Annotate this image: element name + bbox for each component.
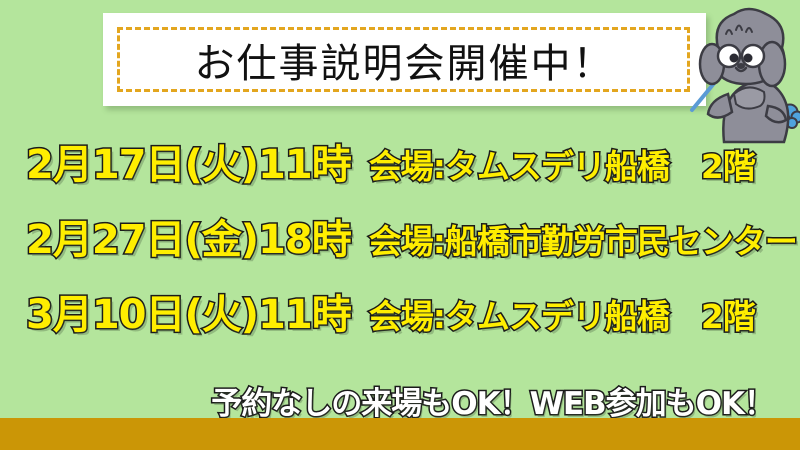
mascot-chest-fluff	[734, 87, 765, 108]
mascot-pupil-right	[744, 54, 753, 63]
mascot-ear-right	[759, 42, 785, 86]
schedule-row-3: 3月10日(火)11時 会場:タムスデリ船橋 2階	[0, 282, 800, 357]
mascot-arm-left	[708, 94, 732, 118]
poodle-mascot-icon	[684, 2, 800, 154]
schedule-row-1: 2月17日(火)11時 会場:タムスデリ船橋 2階	[0, 132, 800, 207]
schedule-venue-2: 会場:船橋市勤労市民センター	[369, 215, 797, 263]
schedule-date-2: 2月27日(金)18時	[26, 207, 351, 265]
mascot-pupil-left	[730, 54, 739, 63]
footer-note: 予約なしの来場もOK！WEB参加もOK！	[0, 378, 774, 423]
schedule-date-3: 3月10日(火)11時	[26, 282, 351, 340]
schedule-row-2: 2月27日(金)18時 会場:船橋市勤労市民センター	[0, 207, 800, 282]
schedule-date-1: 2月17日(火)11時	[26, 132, 351, 190]
mascot-nose	[737, 63, 745, 69]
schedule-list: 2月17日(火)11時 会場:タムスデリ船橋 2階 2月27日(金)18時 会場…	[0, 132, 800, 357]
title-banner: お仕事説明会開催中！	[103, 13, 706, 106]
page-title: お仕事説明会開催中！	[103, 31, 706, 89]
schedule-venue-3: 会場:タムスデリ船橋 2階	[369, 290, 755, 338]
poster-canvas: お仕事説明会開催中！ 2月17日(火)11時 会場:タムスデリ船橋 2階 2月2…	[0, 0, 800, 450]
bottom-accent-bar	[0, 418, 800, 450]
